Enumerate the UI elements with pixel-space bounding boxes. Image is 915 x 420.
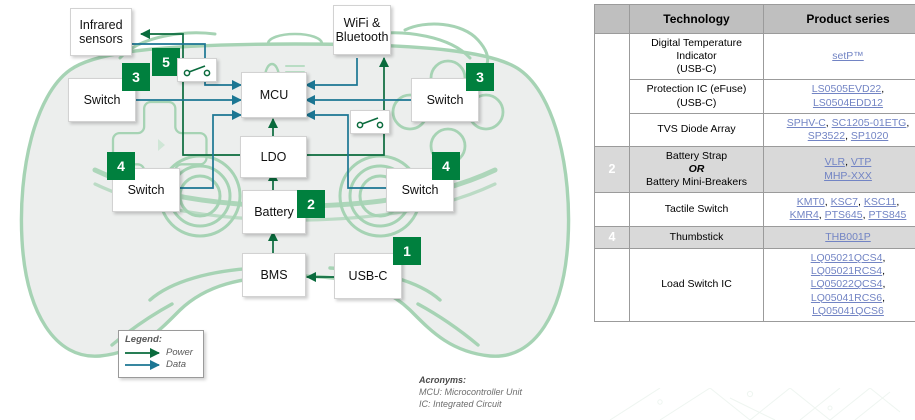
badge-5[interactable]: 5 bbox=[152, 48, 180, 76]
technology-line: Tactile Switch bbox=[634, 203, 759, 216]
table-row: 3Tactile SwitchKMT0, KSC7, KSC11,KMR4, P… bbox=[595, 193, 915, 226]
acronyms-title: Acronyms: bbox=[419, 375, 466, 385]
technology-cell: TVS Diode Array bbox=[630, 113, 764, 146]
product-link[interactable]: VTP bbox=[851, 156, 871, 168]
node-bms-label: BMS bbox=[260, 268, 287, 282]
product-series-cell: VLR, VTPMHP-XXX bbox=[764, 146, 915, 192]
parts-table-head: Technology Product series bbox=[595, 5, 915, 34]
product-link[interactable]: LQ05022QCS4 bbox=[811, 278, 883, 290]
product-link[interactable]: LQ05041QCS6 bbox=[812, 305, 884, 317]
product-line: LQ05021QCS4, bbox=[768, 252, 915, 265]
product-separator: , bbox=[882, 252, 885, 264]
node-battery-label: Battery bbox=[254, 205, 294, 219]
product-separator: , bbox=[882, 278, 885, 290]
product-link[interactable]: SP1020 bbox=[851, 130, 888, 142]
node-switch-right-bottom-label: Switch bbox=[402, 183, 439, 197]
node-ldo-label: LDO bbox=[261, 150, 287, 164]
legend-data-label: Data bbox=[166, 359, 186, 370]
node-bms[interactable]: BMS bbox=[242, 253, 306, 297]
technology-cell: Digital TemperatureIndicator(USB-C) bbox=[630, 34, 764, 80]
technology-line: OR bbox=[634, 163, 759, 176]
technology-cell: Protection IC (eFuse)(USB-C) bbox=[630, 80, 764, 113]
header-number bbox=[595, 5, 630, 34]
badge-2[interactable]: 2 bbox=[297, 190, 325, 218]
load-switch-icon-left[interactable] bbox=[177, 58, 217, 82]
product-link[interactable]: LS0505EVD22 bbox=[812, 83, 881, 95]
table-row: Protection IC (eFuse)(USB-C)LS0505EVD22,… bbox=[595, 80, 915, 113]
product-series-cell: setP™ bbox=[764, 34, 915, 80]
table-row: 1Digital TemperatureIndicator(USB-C)setP… bbox=[595, 34, 915, 80]
technology-line: Protection IC (eFuse) bbox=[634, 83, 759, 96]
product-link[interactable]: KMT0 bbox=[797, 196, 825, 208]
product-series-cell: KMT0, KSC7, KSC11,KMR4, PTS645, PTS845 bbox=[764, 193, 915, 226]
product-link[interactable]: KSC11 bbox=[864, 196, 897, 208]
badge-3-right[interactable]: 3 bbox=[466, 63, 494, 91]
product-separator: , bbox=[906, 117, 909, 129]
technology-cell: Tactile Switch bbox=[630, 193, 764, 226]
badge-5-label: 5 bbox=[162, 54, 170, 70]
load-switch-icon-right[interactable] bbox=[350, 110, 390, 134]
node-ldo[interactable]: LDO bbox=[240, 136, 307, 178]
product-separator: , bbox=[882, 265, 885, 277]
technology-line: Load Switch IC bbox=[634, 278, 759, 291]
product-line: KMR4, PTS645, PTS845 bbox=[768, 209, 915, 222]
product-link[interactable]: KSC7 bbox=[831, 196, 858, 208]
product-link[interactable]: KMR4 bbox=[790, 209, 819, 221]
product-link[interactable]: LQ05021RCS4 bbox=[811, 265, 882, 277]
technology-line: Battery Mini-Breakers bbox=[634, 176, 759, 189]
parts-table: Technology Product series 1Digital Tempe… bbox=[594, 4, 915, 322]
technology-line: (USB-C) bbox=[634, 97, 759, 110]
product-link[interactable]: MHP-XXX bbox=[824, 170, 872, 182]
product-line: LS0504EDD12 bbox=[768, 97, 915, 110]
parts-table-wrapper: Technology Product series 1Digital Tempe… bbox=[594, 4, 909, 322]
product-line: THB001P bbox=[768, 231, 915, 244]
badge-1-label: 1 bbox=[403, 243, 411, 259]
badge-2-label: 2 bbox=[307, 196, 315, 212]
product-series-cell: THB001P bbox=[764, 226, 915, 249]
node-switch-left-top-label: Switch bbox=[84, 93, 121, 107]
legend-box: Legend: Power Data bbox=[118, 330, 204, 378]
product-separator: , bbox=[882, 292, 885, 304]
product-line: LQ05041QCS6 bbox=[768, 305, 915, 318]
product-separator: , bbox=[881, 83, 884, 95]
product-line: LQ05021RCS4, bbox=[768, 265, 915, 278]
switch-symbol-icon bbox=[183, 63, 211, 77]
product-line: LQ05022QCS4, bbox=[768, 278, 915, 291]
node-mcu[interactable]: MCU bbox=[241, 72, 307, 118]
technology-cell: Battery StrapORBattery Mini-Breakers bbox=[630, 146, 764, 192]
parts-table-body: 1Digital TemperatureIndicator(USB-C)setP… bbox=[595, 34, 915, 322]
technology-line: Battery Strap bbox=[634, 150, 759, 163]
table-row: 4ThumbstickTHB001P bbox=[595, 226, 915, 249]
badge-3-left[interactable]: 3 bbox=[122, 63, 150, 91]
product-series-cell: LQ05021QCS4,LQ05021RCS4,LQ05022QCS4,LQ05… bbox=[764, 249, 915, 322]
node-wifi-bluetooth-label: WiFi & Bluetooth bbox=[336, 16, 389, 45]
node-switch-left-bottom-label: Switch bbox=[128, 183, 165, 197]
screenshot-root: Infrared sensors WiFi & Bluetooth Switch… bbox=[0, 0, 915, 420]
product-link[interactable]: SP3522 bbox=[808, 130, 845, 142]
row-number-cell: 3 bbox=[595, 193, 630, 226]
product-line: LS0505EVD22, bbox=[768, 83, 915, 96]
header-product-series: Product series bbox=[764, 5, 915, 34]
badge-4-left-label: 4 bbox=[117, 158, 125, 174]
technology-line: (USB-C) bbox=[634, 63, 759, 76]
product-link[interactable]: VLR bbox=[825, 156, 845, 168]
controller-block-diagram: Infrared sensors WiFi & Bluetooth Switch… bbox=[0, 0, 590, 420]
node-usb-c[interactable]: USB-C bbox=[334, 253, 402, 299]
product-link[interactable]: LQ05021QCS4 bbox=[811, 252, 883, 264]
acronyms-block: Acronyms: MCU: Microcontroller Unit IC: … bbox=[419, 374, 522, 410]
table-row: 2Battery StrapORBattery Mini-BreakersVLR… bbox=[595, 146, 915, 192]
technology-line: Thumbstick bbox=[634, 231, 759, 244]
product-line: KMT0, KSC7, KSC11, bbox=[768, 196, 915, 209]
row-number-cell: 5 bbox=[595, 249, 630, 322]
product-line: SPHV-C, SC1205-01ETG, bbox=[768, 117, 915, 130]
badge-4-right[interactable]: 4 bbox=[432, 152, 460, 180]
header-technology: Technology bbox=[630, 5, 764, 34]
product-line: SP3522, SP1020 bbox=[768, 130, 915, 143]
product-link[interactable]: SC1205-01ETG bbox=[832, 117, 907, 129]
product-separator: , bbox=[896, 196, 899, 208]
product-link[interactable]: SPHV-C bbox=[787, 117, 826, 129]
table-row: TVS Diode ArraySPHV-C, SC1205-01ETG,SP35… bbox=[595, 113, 915, 146]
badge-4-left[interactable]: 4 bbox=[107, 152, 135, 180]
product-link[interactable]: LS0504EDD12 bbox=[813, 97, 883, 109]
row-number-cell: 1 bbox=[595, 34, 630, 147]
technology-cell: Load Switch IC bbox=[630, 249, 764, 322]
node-infrared-sensors-label: Infrared sensors bbox=[79, 18, 123, 47]
product-line: LQ05041RCS6, bbox=[768, 292, 915, 305]
technology-cell: Thumbstick bbox=[630, 226, 764, 249]
technology-line: Indicator bbox=[634, 50, 759, 63]
product-link[interactable]: setP™ bbox=[832, 50, 864, 62]
product-line: MHP-XXX bbox=[768, 170, 915, 183]
badge-3-left-label: 3 bbox=[132, 69, 140, 85]
badge-1[interactable]: 1 bbox=[393, 237, 421, 265]
acronyms-line-1: MCU: Microcontroller Unit bbox=[419, 386, 522, 398]
product-link[interactable]: LQ05041RCS6 bbox=[811, 292, 882, 304]
technology-line: TVS Diode Array bbox=[634, 123, 759, 136]
legend-power-label: Power bbox=[166, 347, 193, 358]
switch-symbol-icon bbox=[356, 115, 384, 129]
acronyms-line-2: IC: Integrated Circuit bbox=[419, 398, 522, 410]
badge-3-right-label: 3 bbox=[476, 69, 484, 85]
product-series-cell: LS0505EVD22,LS0504EDD12 bbox=[764, 80, 915, 113]
product-series-cell: SPHV-C, SC1205-01ETG,SP3522, SP1020 bbox=[764, 113, 915, 146]
technology-line: Digital Temperature bbox=[634, 37, 759, 50]
product-line: setP™ bbox=[768, 50, 915, 63]
row-number-cell: 2 bbox=[595, 146, 630, 192]
table-row: 5Load Switch ICLQ05021QCS4,LQ05021RCS4,L… bbox=[595, 249, 915, 322]
row-number-cell: 4 bbox=[595, 226, 630, 249]
product-link[interactable]: PTS645 bbox=[825, 209, 863, 221]
parts-table-header-row: Technology Product series bbox=[595, 5, 915, 34]
product-line: VLR, VTP bbox=[768, 156, 915, 169]
badge-4-right-label: 4 bbox=[442, 158, 450, 174]
product-link[interactable]: PTS845 bbox=[868, 209, 906, 221]
node-wifi-bluetooth[interactable]: WiFi & Bluetooth bbox=[333, 5, 391, 55]
node-infrared-sensors[interactable]: Infrared sensors bbox=[70, 8, 132, 56]
background-watermark bbox=[600, 388, 915, 420]
node-mcu-label: MCU bbox=[260, 88, 288, 102]
product-link[interactable]: THB001P bbox=[825, 231, 871, 243]
node-switch-right-top-label: Switch bbox=[427, 93, 464, 107]
node-usb-c-label: USB-C bbox=[349, 269, 388, 283]
